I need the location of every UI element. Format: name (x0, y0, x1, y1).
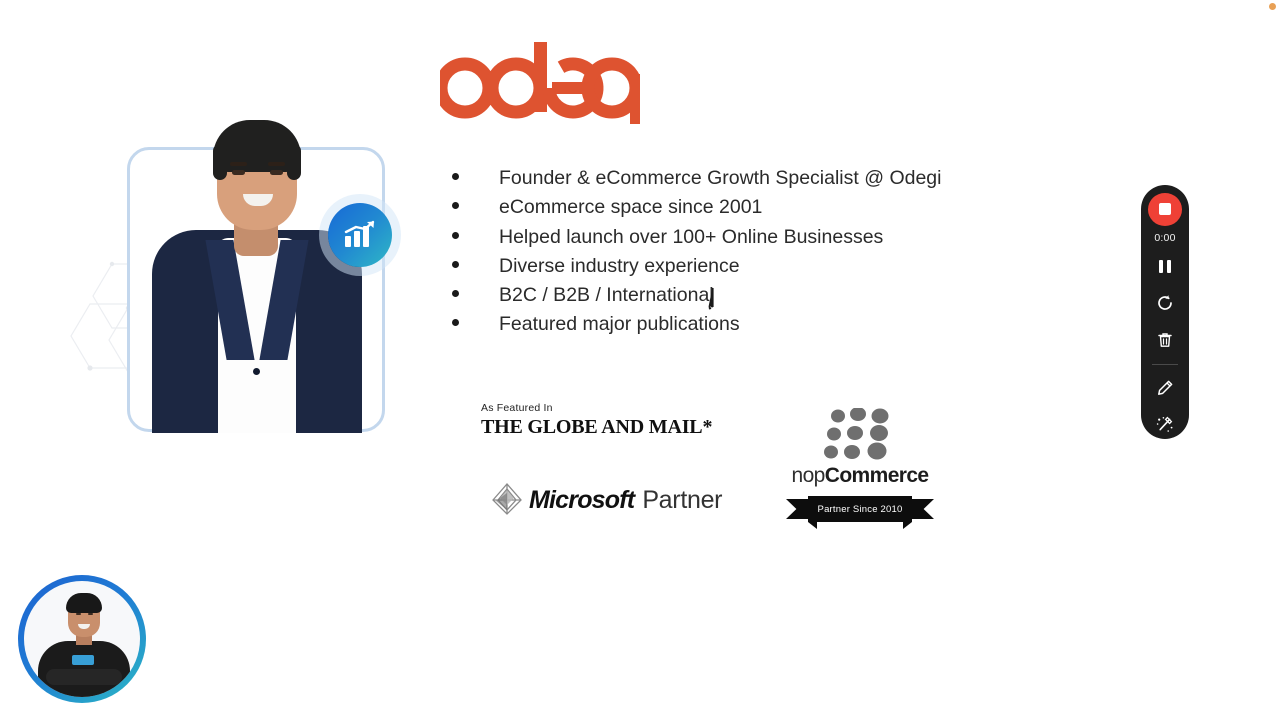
toolbar-divider (1152, 364, 1178, 365)
as-featured-in-label: As Featured In (481, 402, 712, 414)
growth-chart-icon (328, 203, 392, 267)
nopcommerce-wordmark: nopCommerce (786, 464, 934, 488)
list-item: Helped launch over 100+ Online Businesse… (452, 227, 972, 256)
microsoft-wordmark: Microsoft (529, 486, 634, 515)
nop-prefix: nop (792, 464, 825, 487)
pen-icon (1156, 379, 1174, 397)
bullet-text: Founder & eCommerce Growth Specialist @ … (499, 168, 941, 189)
stop-recording-button[interactable] (1148, 193, 1182, 226)
pen-tool-button[interactable] (1148, 373, 1182, 402)
restart-button[interactable] (1148, 289, 1182, 318)
nop-suffix: Commerce (825, 464, 929, 487)
list-item: Founder & eCommerce Growth Specialist @ … (452, 168, 972, 197)
pause-icon (1159, 260, 1171, 273)
corner-indicator-dot (1269, 3, 1276, 10)
microsoft-partner-tier: Partner (642, 486, 722, 515)
avatar (24, 581, 140, 697)
delete-button[interactable] (1148, 325, 1182, 354)
bullet-marker-icon (452, 202, 459, 209)
bullet-text: Helped launch over 100+ Online Businesse… (499, 227, 883, 248)
list-item: Featured major publications (452, 314, 972, 343)
presenter-webcam-bubble[interactable] (18, 575, 146, 703)
list-item: Diverse industry experience (452, 256, 972, 285)
credentials-bullet-list: Founder & eCommerce Growth Specialist @ … (452, 168, 972, 344)
trash-icon (1157, 331, 1173, 349)
ribbon-fold-left (808, 522, 817, 529)
bullet-marker-icon (452, 232, 459, 239)
globe-and-mail-logo: THE GLOBE AND MAIL* (481, 416, 712, 439)
effects-button[interactable] (1148, 410, 1182, 439)
bullet-marker-icon (452, 290, 459, 297)
stop-square-icon (1159, 203, 1171, 215)
odegi-logo (440, 26, 640, 126)
hero-photo-block (70, 118, 420, 443)
pause-button[interactable] (1148, 252, 1182, 281)
bullet-marker-icon (452, 173, 459, 180)
screen-recorder-toolbar: 0:00 (1141, 185, 1189, 439)
bullet-marker-icon (452, 261, 459, 268)
ribbon-center: Partner Since 2010 (808, 496, 912, 522)
founder-portrait-photo (150, 118, 362, 433)
microsoft-partner-logo: Microsoft Partner (487, 480, 722, 520)
bullet-text: Featured major publications (499, 314, 740, 335)
bullet-text: B2C / B2B / International (499, 285, 714, 306)
bullet-text: Diverse industry experience (499, 256, 740, 277)
nopcommerce-dots-icon (822, 408, 898, 460)
presentation-slide: Founder & eCommerce Growth Specialist @ … (0, 0, 1280, 720)
text-cursor (708, 288, 718, 310)
bullet-marker-icon (452, 319, 459, 326)
list-item: eCommerce space since 2001 (452, 197, 972, 226)
bullet-text: eCommerce space since 2001 (499, 197, 762, 218)
microsoft-partner-emblem-icon (487, 480, 529, 520)
ribbon-text: Partner Since 2010 (818, 504, 903, 515)
recording-timer: 0:00 (1154, 232, 1175, 244)
magic-wand-icon (1156, 416, 1174, 434)
as-featured-in-block: As Featured In THE GLOBE AND MAIL* (481, 402, 712, 439)
ribbon-fold-right (903, 522, 912, 529)
partner-since-ribbon: Partner Since 2010 (786, 496, 934, 526)
nopcommerce-partner-logo: nopCommerce Partner Since 2010 (786, 408, 934, 526)
restart-arrow-icon (1156, 294, 1174, 312)
